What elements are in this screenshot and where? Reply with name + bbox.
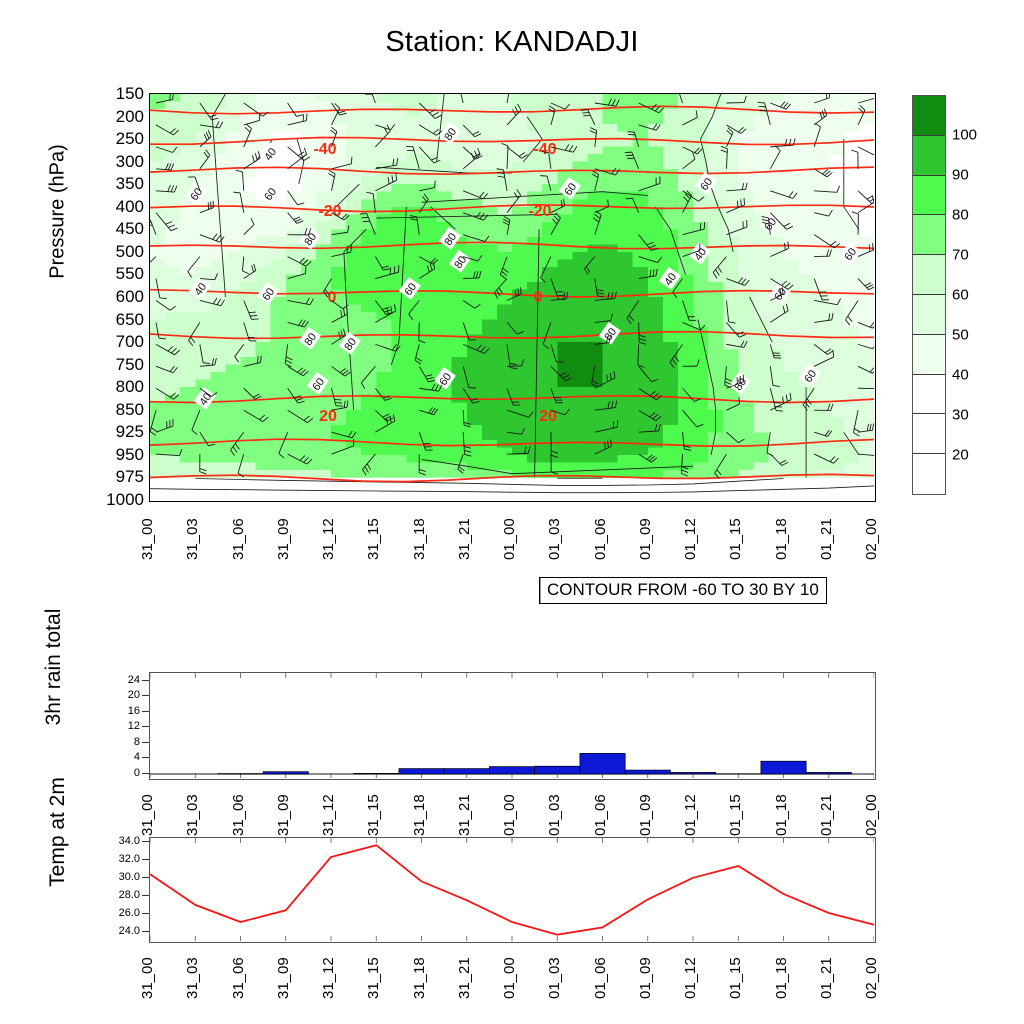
red-contour-label: 20 <box>319 408 337 425</box>
x-tick-label: 01_12 <box>682 508 704 570</box>
x-tick-label: 31_00 <box>139 508 161 570</box>
rain-tick-label: 12 <box>128 720 140 732</box>
x-tick-label: 31_12 <box>320 947 342 1009</box>
red-contour-label: -40 <box>313 141 336 158</box>
pressure-tick-label: 650 <box>116 310 144 330</box>
rain-tick-label: 16 <box>128 705 140 717</box>
rain-bar <box>806 772 851 774</box>
temp-y-axis-ticks: 24.026.028.030.032.034.0 <box>96 837 144 943</box>
rain-bars-svg <box>150 673 874 778</box>
rain-bar-chart <box>149 672 876 780</box>
x-tick-label: 31_09 <box>275 947 297 1009</box>
rain-bar <box>489 767 534 774</box>
pressure-tick-label: 550 <box>116 264 144 284</box>
rain-bar <box>625 770 670 774</box>
rain-bar <box>670 772 715 774</box>
sounding-contour-svg: -40-40-20-200020206040604080604080608080… <box>150 94 874 500</box>
rain-tick-label: 8 <box>134 736 140 748</box>
temp-line-svg <box>150 838 874 941</box>
x-tick-label: 31_03 <box>184 947 206 1009</box>
rain-tick-label: 0 <box>134 767 140 779</box>
pressure-tick-label: 925 <box>116 422 144 442</box>
temp-x-axis-ticks: 31_0031_0331_0631_0931_1231_1531_1831_21… <box>149 947 876 1009</box>
rain-bar <box>761 761 806 774</box>
x-tick-label: 02_00 <box>863 508 885 570</box>
pressure-tick-label: 700 <box>116 332 144 352</box>
colorbar-tick-label: 70 <box>952 247 969 264</box>
pressure-tick-label: 300 <box>116 152 144 172</box>
x-tick-label: 01_09 <box>637 508 659 570</box>
temp-tick-label: 28.0 <box>119 889 140 901</box>
x-tick-label: 01_06 <box>592 947 614 1009</box>
x-tick-label: 01_21 <box>818 947 840 1009</box>
red-contour-label: 20 <box>539 408 557 425</box>
x-tick-label: 31_18 <box>411 947 433 1009</box>
x-tick-label: 31_03 <box>184 508 206 570</box>
x-tick-label: 01_15 <box>727 508 749 570</box>
temp-tick-label: 26.0 <box>119 907 140 919</box>
main-y-axis-ticks: 1502002503003504004505005506006507007508… <box>100 93 144 502</box>
colorbar-tick-label: 20 <box>952 447 969 464</box>
colorbar-tick-labels: 1009080706050403020 <box>912 95 1022 495</box>
rain-y-axis-ticks: 04812162024 <box>100 672 144 780</box>
x-tick-label: 01_03 <box>546 947 568 1009</box>
colorbar-tick-label: 80 <box>952 207 969 224</box>
x-tick-label: 31_06 <box>230 947 252 1009</box>
temp-y-axis-label: Temp at 2m <box>46 732 70 932</box>
pressure-tick-label: 500 <box>116 242 144 262</box>
pressure-tick-label: 450 <box>116 219 144 239</box>
x-tick-label: 31_21 <box>456 508 478 570</box>
rain-tick-label: 24 <box>128 674 140 686</box>
x-tick-label: 01_15 <box>727 947 749 1009</box>
pressure-tick-label: 200 <box>116 107 144 127</box>
sounding-time-height-plot: -40-40-20-200020206040604080604080608080… <box>149 93 876 502</box>
colorbar-tick-label: 30 <box>952 407 969 424</box>
pressure-tick-label: 950 <box>116 445 144 465</box>
pressure-tick-label: 850 <box>116 400 144 420</box>
red-contour-label: -20 <box>528 203 551 220</box>
x-tick-label: 31_06 <box>230 508 252 570</box>
colorbar-tick-label: 100 <box>952 127 977 144</box>
rain-tick-label: 4 <box>134 751 140 763</box>
pressure-tick-label: 800 <box>116 377 144 397</box>
red-contour-label: -40 <box>533 141 556 158</box>
pressure-tick-label: 975 <box>116 467 144 487</box>
x-tick-label: 31_12 <box>320 508 342 570</box>
x-tick-label: 01_00 <box>501 508 523 570</box>
pressure-tick-label: 400 <box>116 197 144 217</box>
x-tick-label: 01_03 <box>546 508 568 570</box>
pressure-tick-label: 250 <box>116 129 144 149</box>
rain-bar <box>444 769 489 774</box>
x-tick-label: 01_00 <box>501 947 523 1009</box>
pressure-tick-label: 1000 <box>106 490 144 510</box>
x-tick-label: 31_21 <box>456 947 478 1009</box>
temperature-line-chart <box>149 837 876 943</box>
rain-tick-label: 20 <box>128 689 140 701</box>
temp-tick-label: 32.0 <box>119 853 140 865</box>
colorbar-tick-label: 90 <box>952 167 969 184</box>
x-tick-label: 31_00 <box>139 947 161 1009</box>
main-y-axis-label: Pressure (hPa) <box>47 112 70 312</box>
pressure-tick-label: 600 <box>116 287 144 307</box>
station-sounding-figure: Station: KANDADJI Pressure (hPa) 1502002… <box>0 0 1024 1024</box>
rain-bar <box>354 773 399 774</box>
x-tick-label: 01_12 <box>682 947 704 1009</box>
rain-bar <box>399 769 444 774</box>
rain-bar <box>535 766 580 774</box>
page-title: Station: KANDADJI <box>0 26 1024 59</box>
contour-note: CONTOUR FROM -60 TO 30 BY 10 <box>539 577 827 604</box>
x-tick-label: 31_09 <box>275 508 297 570</box>
x-tick-label: 01_06 <box>592 508 614 570</box>
x-tick-label: 01_21 <box>818 508 840 570</box>
colorbar-tick-label: 50 <box>952 327 969 344</box>
x-tick-label: 01_18 <box>773 947 795 1009</box>
temp-tick-label: 34.0 <box>119 835 140 847</box>
pressure-tick-label: 150 <box>116 84 144 104</box>
rain-bar <box>263 772 308 774</box>
temp-line <box>150 845 874 935</box>
pressure-tick-label: 750 <box>116 355 144 375</box>
x-tick-label: 31_15 <box>365 947 387 1009</box>
rain-bar <box>580 753 625 774</box>
main-x-axis-ticks: 31_0031_0331_0631_0931_1231_1531_1831_21… <box>149 508 876 570</box>
x-tick-label: 31_15 <box>365 508 387 570</box>
x-tick-label: 31_18 <box>411 508 433 570</box>
colorbar-tick-label: 40 <box>952 367 969 384</box>
x-tick-label: 01_18 <box>773 508 795 570</box>
pressure-tick-label: 350 <box>116 174 144 194</box>
red-contour-label: 0 <box>534 289 543 306</box>
temp-tick-label: 24.0 <box>119 925 140 937</box>
colorbar-tick-label: 60 <box>952 287 969 304</box>
temp-tick-label: 30.0 <box>119 871 140 883</box>
x-tick-label: 01_09 <box>637 947 659 1009</box>
x-tick-label: 02_00 <box>863 947 885 1009</box>
red-contour-label: -20 <box>318 203 341 220</box>
